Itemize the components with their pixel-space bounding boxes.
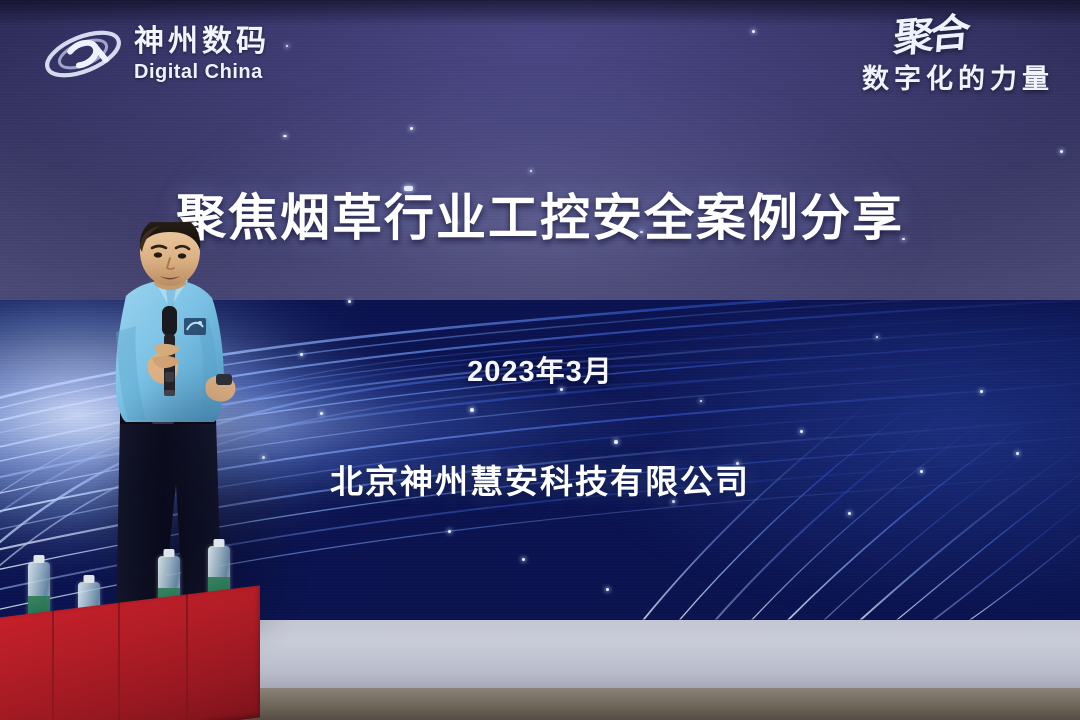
- bottle-cap: [34, 555, 45, 563]
- brand-logo: 神州数码 Digital China: [42, 22, 270, 86]
- conference-photo: 神州数码 Digital China 聚合 数字化的力量 聚焦烟草行业工控安全案…: [0, 0, 1080, 720]
- event-slogan: 聚合 数字化的力量: [862, 18, 1054, 96]
- bottle-cap: [164, 549, 175, 557]
- bottle-cap: [214, 539, 225, 547]
- digital-china-swirl-logo-icon: [42, 22, 124, 86]
- foreground-head-table: [0, 560, 290, 720]
- brand-name-en: Digital China: [134, 62, 270, 82]
- slogan-subtitle: 数字化的力量: [862, 57, 1054, 96]
- cloth-fold: [52, 611, 54, 720]
- cloth-fold: [118, 603, 120, 720]
- cloth-fold: [186, 594, 188, 720]
- brand-name-cn: 神州数码: [134, 27, 270, 57]
- chest-logo-badge: [184, 318, 206, 335]
- slogan-calligraphy: 聚合: [892, 15, 967, 58]
- bottle-cap: [84, 575, 95, 583]
